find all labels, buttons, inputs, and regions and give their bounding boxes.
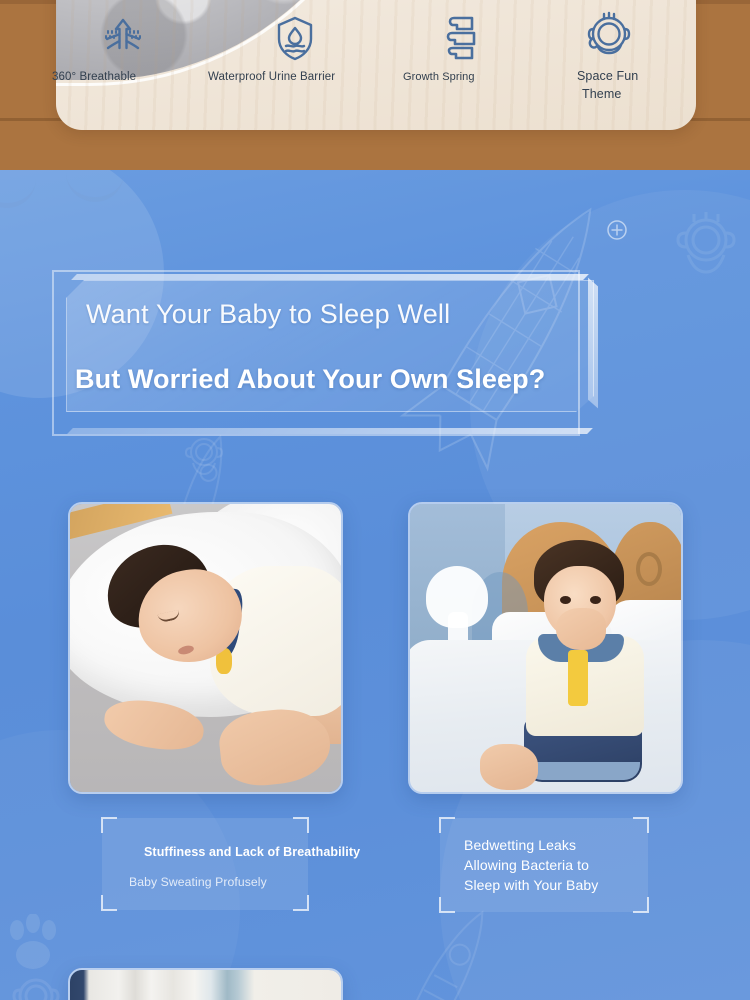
circled-plus-icon	[605, 218, 629, 242]
feature-item-waterproof[interactable]: Waterproof Urine Barrier	[274, 14, 335, 85]
product-detail-page: 360° Breathable Waterproof Urine Barrier	[0, 0, 750, 1000]
feature-item-space-theme[interactable]: Space Fun Theme	[582, 8, 638, 103]
caption-left-line-1: Stuffiness and Lack of Breathability	[144, 845, 360, 859]
feature-label-space-theme: Space Fun Theme	[577, 69, 638, 101]
problem-caption-left: Stuffiness and Lack of Breathability Bab…	[102, 818, 308, 910]
breathable-airflow-icon	[96, 14, 153, 67]
feature-label-waterproof: Waterproof Urine Barrier	[208, 71, 335, 83]
feature-label-breathable: 360° Breathable	[52, 71, 136, 83]
corner-bracket-top-right	[633, 817, 649, 833]
caption-right-text: Bedwetting Leaks Allowing Bacteria to Sl…	[464, 836, 598, 896]
hero-headline: Want Your Baby to Sleep Well But Worried…	[52, 270, 588, 438]
astronaut-decoration-bottom-icon	[8, 970, 64, 1000]
headline-line-1: Want Your Baby to Sleep Well	[86, 299, 450, 330]
sleeping-eye-left-icon	[0, 178, 36, 208]
feature-banner: 360° Breathable Waterproof Urine Barrier	[0, 0, 750, 170]
feature-item-growth-spring[interactable]: Growth Spring	[441, 12, 485, 85]
corner-bracket-bottom-right	[293, 895, 309, 911]
growth-spring-icon	[441, 12, 485, 67]
problem-image-child-sitting[interactable]	[408, 502, 683, 794]
paw-print-icon	[6, 914, 60, 974]
headline-line-2: But Worried About Your Own Sleep?	[75, 364, 545, 395]
corner-bracket-bottom-left	[439, 897, 455, 913]
problem-caption-right: Bedwetting Leaks Allowing Bacteria to Sl…	[440, 818, 648, 912]
corner-bracket-top-left	[439, 817, 455, 833]
problem-image-third[interactable]	[68, 968, 343, 1000]
headline-bevel-top	[71, 274, 589, 280]
problem-image-sleeping-child[interactable]	[68, 502, 343, 794]
astronaut-helmet-icon	[582, 8, 638, 67]
caption-left-line-2: Baby Sweating Profusely	[129, 875, 267, 889]
waterproof-shield-icon	[274, 14, 335, 67]
corner-bracket-top-right	[293, 817, 309, 833]
astronaut-decoration-right-icon	[670, 208, 742, 294]
headline-bevel-bottom	[67, 428, 593, 434]
feature-list: 360° Breathable Waterproof Urine Barrier	[56, 0, 696, 130]
astronaut-small-icon	[182, 432, 226, 486]
sleeping-eye-right-icon	[66, 172, 124, 202]
feature-item-breathable[interactable]: 360° Breathable	[96, 14, 153, 85]
headline-bevel-right	[588, 278, 598, 409]
feature-label-growth-spring: Growth Spring	[403, 71, 475, 83]
corner-bracket-top-left	[101, 817, 117, 833]
corner-bracket-bottom-right	[633, 897, 649, 913]
corner-bracket-bottom-left	[101, 895, 117, 911]
